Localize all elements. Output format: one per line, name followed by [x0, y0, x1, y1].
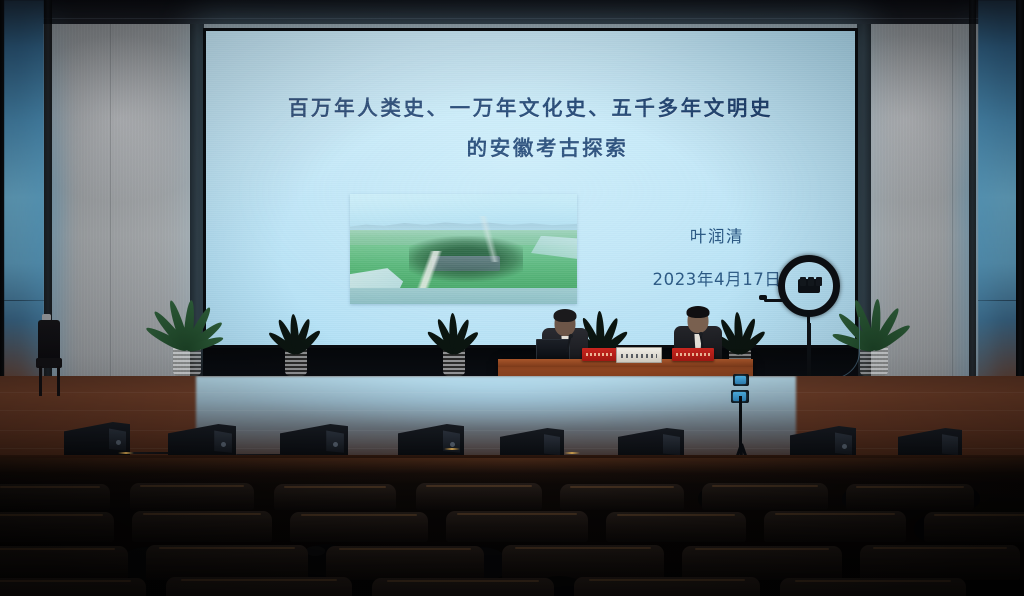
ceiling: [0, 0, 1024, 26]
seat-row-4: [0, 562, 1024, 596]
audience-seat: [574, 577, 760, 596]
projection-screen-frame: 百万年人类史、一万年文化史、五千多年文明史 的安徽考古探索 叶润清 2: [203, 28, 858, 348]
potted-plant-2: [430, 306, 478, 376]
floor-plank: [0, 410, 1024, 411]
projection-screen: 百万年人类史、一万年文化史、五千多年文明史 的安徽考古探索 叶润清 2: [206, 31, 855, 345]
photo-haze: [350, 194, 577, 304]
audience-seat: [372, 578, 554, 596]
desk-sign: [616, 347, 662, 363]
chair-back: [38, 320, 60, 360]
stage-cable-glint: [564, 452, 580, 454]
ring-light-phone-3: [816, 277, 822, 286]
microphone-right-head: [699, 332, 703, 336]
speaker-grille: [942, 434, 959, 455]
speaker-grille: [544, 434, 561, 455]
stage-cable-glint: [444, 448, 460, 450]
stage-chair: [36, 320, 62, 396]
floor-plank: [0, 392, 1024, 393]
audience-seat: [166, 577, 352, 596]
chair-leg: [57, 366, 60, 396]
ring-light-arm: [764, 299, 786, 302]
speaker-badge: [116, 440, 121, 445]
ceiling-seam: [0, 18, 1024, 19]
slide-title: 百万年人类史、一万年文化史、五千多年文明史 的安徽考古探索: [206, 88, 855, 168]
audience-seat: [780, 578, 966, 596]
slide-title-line-2: 的安徽考古探索: [206, 128, 855, 168]
floor-plank: [0, 430, 1024, 431]
speaker-left-hair: [554, 309, 577, 322]
auditorium-scene: 百万年人类史、一万年文化史、五千多年文明史 的安徽考古探索 叶润清 2: [0, 0, 1024, 596]
audience-area: [0, 458, 1024, 596]
speaker-right-hair: [687, 306, 710, 318]
potted-plant-left-tall: [152, 276, 222, 376]
name-card-right: [672, 348, 714, 361]
tripod-pole: [739, 396, 742, 450]
potted-plant-1: [272, 306, 320, 376]
ring-light-phone-1: [800, 277, 806, 286]
slide-presenter-name: 叶润清: [627, 223, 807, 247]
ring-light-phone-2: [808, 277, 814, 286]
speaker-grille: [663, 434, 680, 455]
slide-title-line-1: 百万年人类史、一万年文化史、五千多年文明史: [288, 96, 773, 120]
stage-cable-glint: [118, 452, 134, 454]
stage-cable: [128, 452, 174, 454]
microphone-left-head: [569, 334, 573, 338]
slide-photo-aerial-site: [350, 194, 577, 304]
ring-light-arm-head: [759, 295, 767, 300]
audience-seat: [0, 578, 146, 596]
tripod-phone-screen-upper: [735, 376, 746, 384]
chair-leg: [39, 366, 42, 396]
laptop-screen: [536, 339, 570, 361]
name-card-left: [582, 348, 618, 361]
speaker-badge: [842, 444, 847, 449]
laptop: [536, 339, 570, 361]
speaker-badge: [450, 442, 455, 447]
